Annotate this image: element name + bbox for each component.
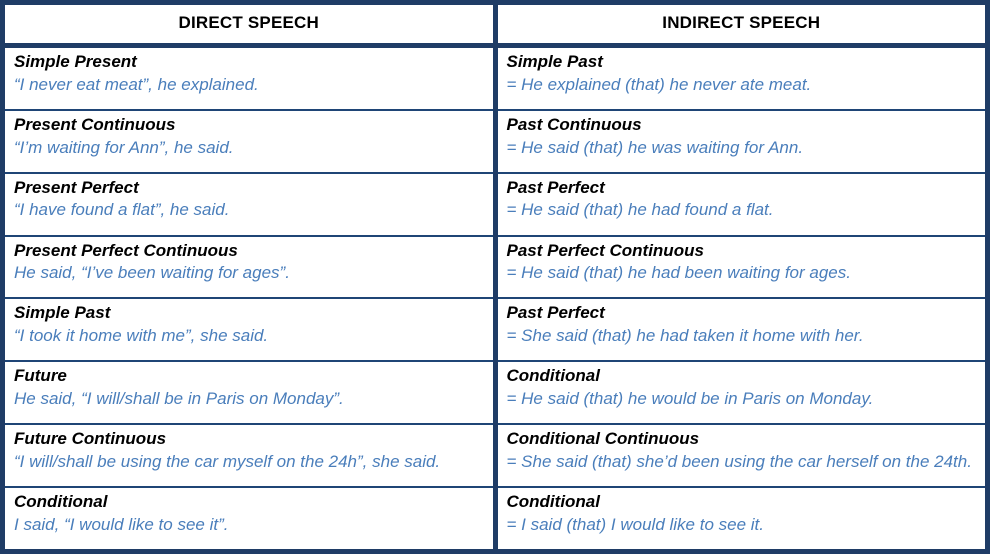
indirect-example-sentence: = He said (that) he was waiting for Ann. bbox=[507, 137, 978, 160]
indirect-tense-label: Past Continuous bbox=[507, 114, 978, 137]
indirect-speech-cell: Past Perfect= He said (that) he had foun… bbox=[495, 173, 988, 236]
table-row: Simple Present“I never eat meat”, he exp… bbox=[3, 46, 988, 111]
direct-indirect-speech-table: DIRECT SPEECH INDIRECT SPEECH Simple Pre… bbox=[0, 0, 990, 554]
indirect-speech-cell: Past Perfect= She said (that) he had tak… bbox=[495, 298, 988, 361]
direct-tense-label: Simple Past bbox=[14, 302, 485, 325]
indirect-speech-cell: Past Continuous= He said (that) he was w… bbox=[495, 110, 988, 173]
direct-tense-label: Present Perfect bbox=[14, 177, 485, 200]
direct-tense-label: Future bbox=[14, 365, 485, 388]
direct-tense-label: Simple Present bbox=[14, 51, 485, 74]
direct-speech-cell: Simple Past“I took it home with me”, she… bbox=[3, 298, 496, 361]
indirect-tense-label: Conditional Continuous bbox=[507, 428, 978, 451]
table-row: Simple Past“I took it home with me”, she… bbox=[3, 298, 988, 361]
direct-example-sentence: “I’m waiting for Ann”, he said. bbox=[14, 137, 485, 160]
direct-tense-label: Present Perfect Continuous bbox=[14, 240, 485, 263]
table-body: Simple Present“I never eat meat”, he exp… bbox=[3, 46, 988, 552]
indirect-example-sentence: = He said (that) he had found a flat. bbox=[507, 199, 978, 222]
indirect-tense-label: Past Perfect Continuous bbox=[507, 240, 978, 263]
direct-tense-label: Future Continuous bbox=[14, 428, 485, 451]
table-row: Present Continuous“I’m waiting for Ann”,… bbox=[3, 110, 988, 173]
indirect-example-sentence: = He said (that) he had been waiting for… bbox=[507, 262, 978, 285]
table-header-row: DIRECT SPEECH INDIRECT SPEECH bbox=[3, 3, 988, 46]
indirect-example-sentence: = I said (that) I would like to see it. bbox=[507, 514, 978, 537]
direct-example-sentence: “I will/shall be using the car myself on… bbox=[14, 451, 485, 474]
table-row: Present Perfect ContinuousHe said, “I’ve… bbox=[3, 236, 988, 299]
table-row: Present Perfect“I have found a flat”, he… bbox=[3, 173, 988, 236]
direct-example-sentence: “I have found a flat”, he said. bbox=[14, 199, 485, 222]
indirect-example-sentence: = He said (that) he would be in Paris on… bbox=[507, 388, 978, 411]
indirect-example-sentence: = She said (that) he had taken it home w… bbox=[507, 325, 978, 348]
direct-example-sentence: “I took it home with me”, she said. bbox=[14, 325, 485, 348]
indirect-example-sentence: = He explained (that) he never ate meat. bbox=[507, 74, 978, 97]
direct-tense-label: Present Continuous bbox=[14, 114, 485, 137]
direct-example-sentence: He said, “I’ve been waiting for ages”. bbox=[14, 262, 485, 285]
table-row: ConditionalI said, “I would like to see … bbox=[3, 487, 988, 552]
direct-speech-cell: Present Continuous“I’m waiting for Ann”,… bbox=[3, 110, 496, 173]
table-row: FutureHe said, “I will/shall be in Paris… bbox=[3, 361, 988, 424]
indirect-tense-label: Conditional bbox=[507, 491, 978, 514]
column-header-indirect-speech: INDIRECT SPEECH bbox=[495, 3, 988, 46]
direct-tense-label: Conditional bbox=[14, 491, 485, 514]
indirect-tense-label: Simple Past bbox=[507, 51, 978, 74]
indirect-speech-cell: Past Perfect Continuous= He said (that) … bbox=[495, 236, 988, 299]
direct-example-sentence: “I never eat meat”, he explained. bbox=[14, 74, 485, 97]
indirect-speech-cell: Conditional Continuous= She said (that) … bbox=[495, 424, 988, 487]
direct-speech-cell: Present Perfect ContinuousHe said, “I’ve… bbox=[3, 236, 496, 299]
direct-example-sentence: He said, “I will/shall be in Paris on Mo… bbox=[14, 388, 485, 411]
direct-speech-cell: ConditionalI said, “I would like to see … bbox=[3, 487, 496, 552]
indirect-tense-label: Conditional bbox=[507, 365, 978, 388]
column-header-direct-speech: DIRECT SPEECH bbox=[3, 3, 496, 46]
indirect-example-sentence: = She said (that) she’d been using the c… bbox=[507, 451, 978, 474]
direct-speech-cell: Simple Present“I never eat meat”, he exp… bbox=[3, 46, 496, 111]
direct-speech-cell: FutureHe said, “I will/shall be in Paris… bbox=[3, 361, 496, 424]
direct-speech-cell: Present Perfect“I have found a flat”, he… bbox=[3, 173, 496, 236]
indirect-tense-label: Past Perfect bbox=[507, 177, 978, 200]
table-row: Future Continuous“I will/shall be using … bbox=[3, 424, 988, 487]
indirect-tense-label: Past Perfect bbox=[507, 302, 978, 325]
indirect-speech-cell: Conditional= He said (that) he would be … bbox=[495, 361, 988, 424]
direct-example-sentence: I said, “I would like to see it”. bbox=[14, 514, 485, 537]
indirect-speech-cell: Simple Past= He explained (that) he neve… bbox=[495, 46, 988, 111]
direct-speech-cell: Future Continuous“I will/shall be using … bbox=[3, 424, 496, 487]
indirect-speech-cell: Conditional= I said (that) I would like … bbox=[495, 487, 988, 552]
